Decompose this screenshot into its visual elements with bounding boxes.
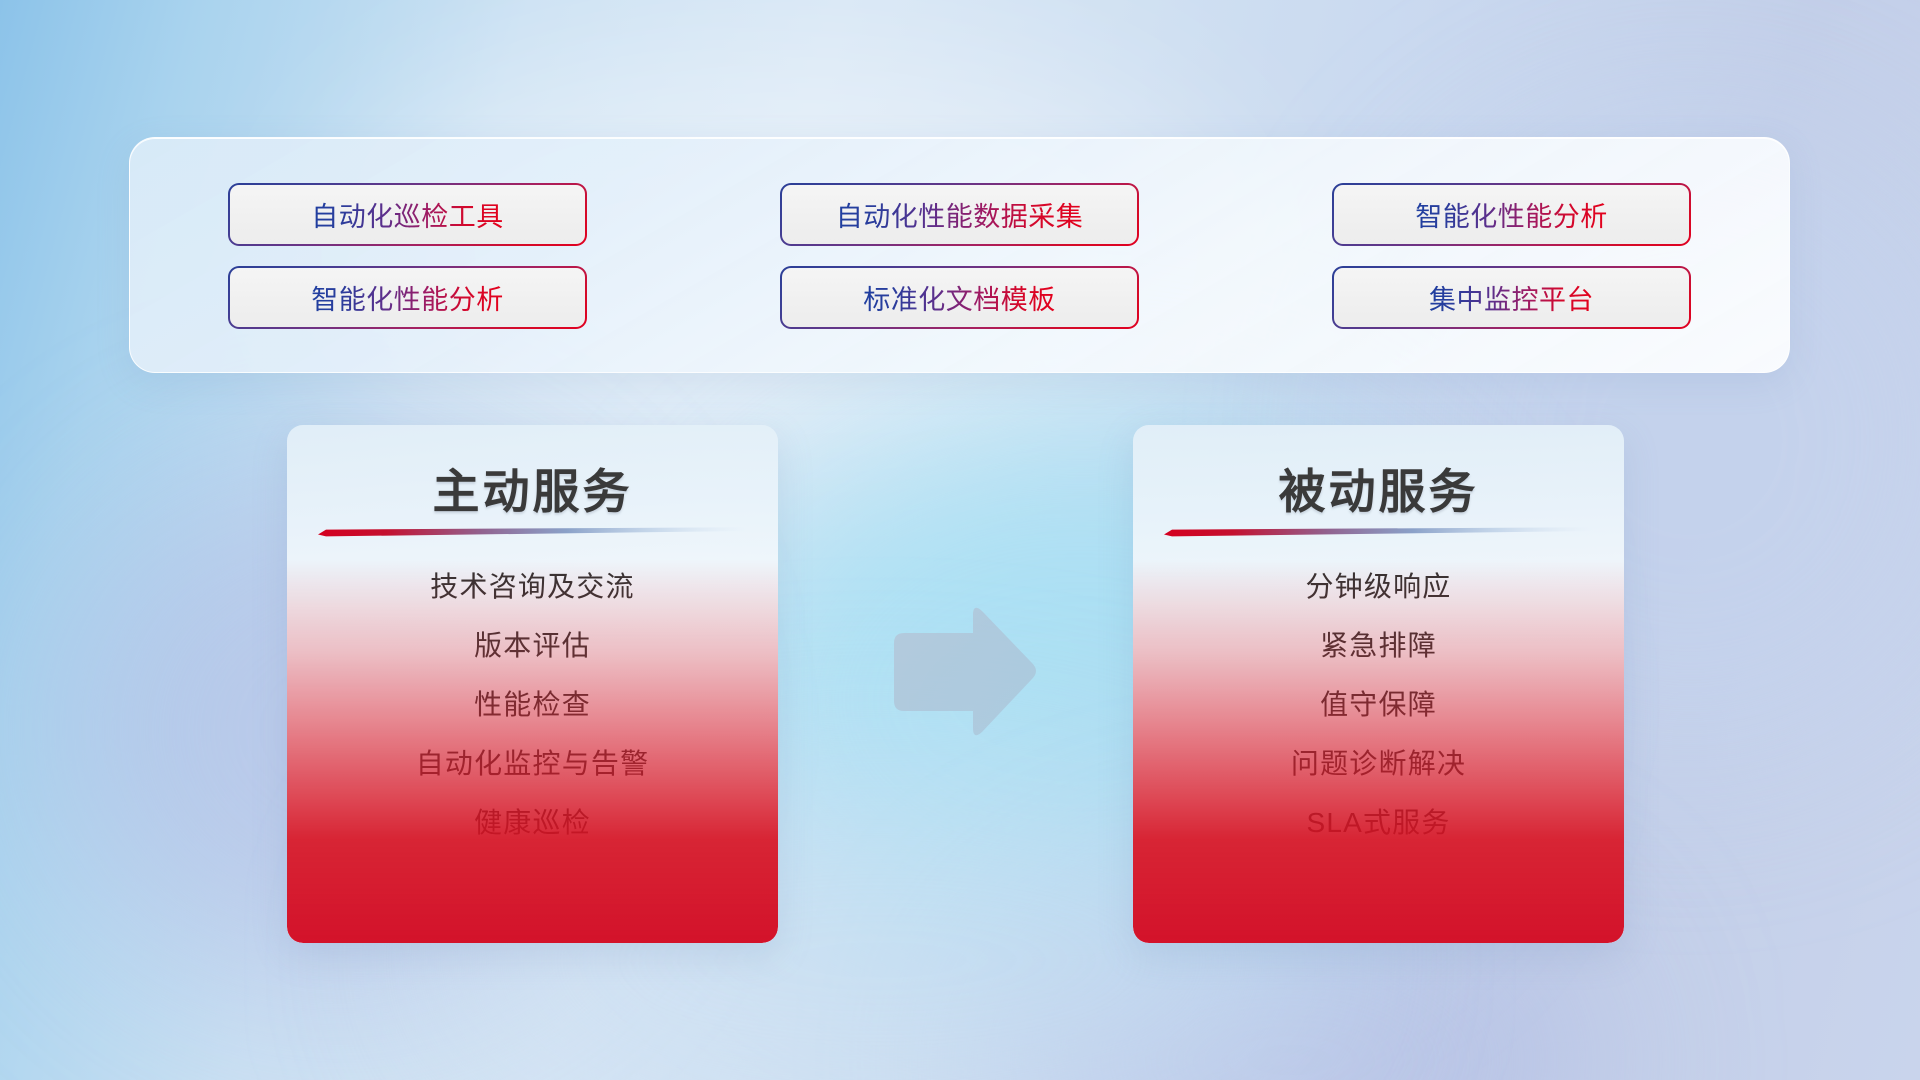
capability-pill-label: 智能化性能分析 — [1415, 195, 1608, 234]
card-title: 主动服务 — [287, 453, 778, 522]
card-list-item[interactable]: 自动化监控与告警 — [287, 734, 778, 793]
card-title-divider — [1164, 525, 1593, 537]
card-list-item[interactable]: 分钟级响应 — [1133, 557, 1624, 616]
service-card-proactive[interactable]: 主动服务 技术咨询及交流 版本评估 性能检查 自动化监控与告警 健康巡检 — [287, 425, 778, 943]
capability-pill-label: 集中监控平台 — [1429, 278, 1594, 317]
card-list-item[interactable]: 版本评估 — [287, 616, 778, 675]
card-list-item[interactable]: 值守保障 — [1133, 675, 1624, 734]
capability-pill-3[interactable]: 智能化性能分析 — [230, 268, 585, 327]
service-card-reactive[interactable]: 被动服务 分钟级响应 紧急排障 值守保障 问题诊断解决 SLA式服务 — [1133, 425, 1624, 943]
card-item-list: 技术咨询及交流 版本评估 性能检查 自动化监控与告警 健康巡检 — [287, 557, 778, 852]
card-list-item[interactable]: 健康巡检 — [287, 793, 778, 852]
capability-pill-grid: 自动化巡检工具 自动化性能数据采集 智能化性能分析 智能化性能分析 标准化文档模… — [130, 138, 1789, 372]
card-list-item[interactable]: 性能检查 — [287, 675, 778, 734]
capability-pill-5[interactable]: 集中监控平台 — [1334, 268, 1689, 327]
capability-pill-1[interactable]: 自动化性能数据采集 — [782, 185, 1137, 244]
capability-pill-0[interactable]: 自动化巡检工具 — [230, 185, 585, 244]
capability-pill-label: 标准化文档模板 — [863, 278, 1056, 317]
card-list-item[interactable]: 技术咨询及交流 — [287, 557, 778, 616]
card-item-list: 分钟级响应 紧急排障 值守保障 问题诊断解决 SLA式服务 — [1133, 557, 1624, 852]
capability-pill-label: 智能化性能分析 — [311, 278, 504, 317]
capability-pill-label: 自动化性能数据采集 — [836, 195, 1084, 234]
capability-pill-4[interactable]: 标准化文档模板 — [782, 268, 1137, 327]
card-list-item[interactable]: 紧急排障 — [1133, 616, 1624, 675]
card-list-item[interactable]: 问题诊断解决 — [1133, 734, 1624, 793]
capability-pill-2[interactable]: 智能化性能分析 — [1334, 185, 1689, 244]
capability-panel: 自动化巡检工具 自动化性能数据采集 智能化性能分析 智能化性能分析 标准化文档模… — [129, 137, 1790, 373]
card-list-item[interactable]: SLA式服务 — [1133, 793, 1624, 852]
capability-pill-label: 自动化巡检工具 — [311, 195, 504, 234]
arrow-right-icon — [880, 601, 1040, 743]
card-title: 被动服务 — [1133, 453, 1624, 522]
card-title-divider — [318, 525, 747, 537]
